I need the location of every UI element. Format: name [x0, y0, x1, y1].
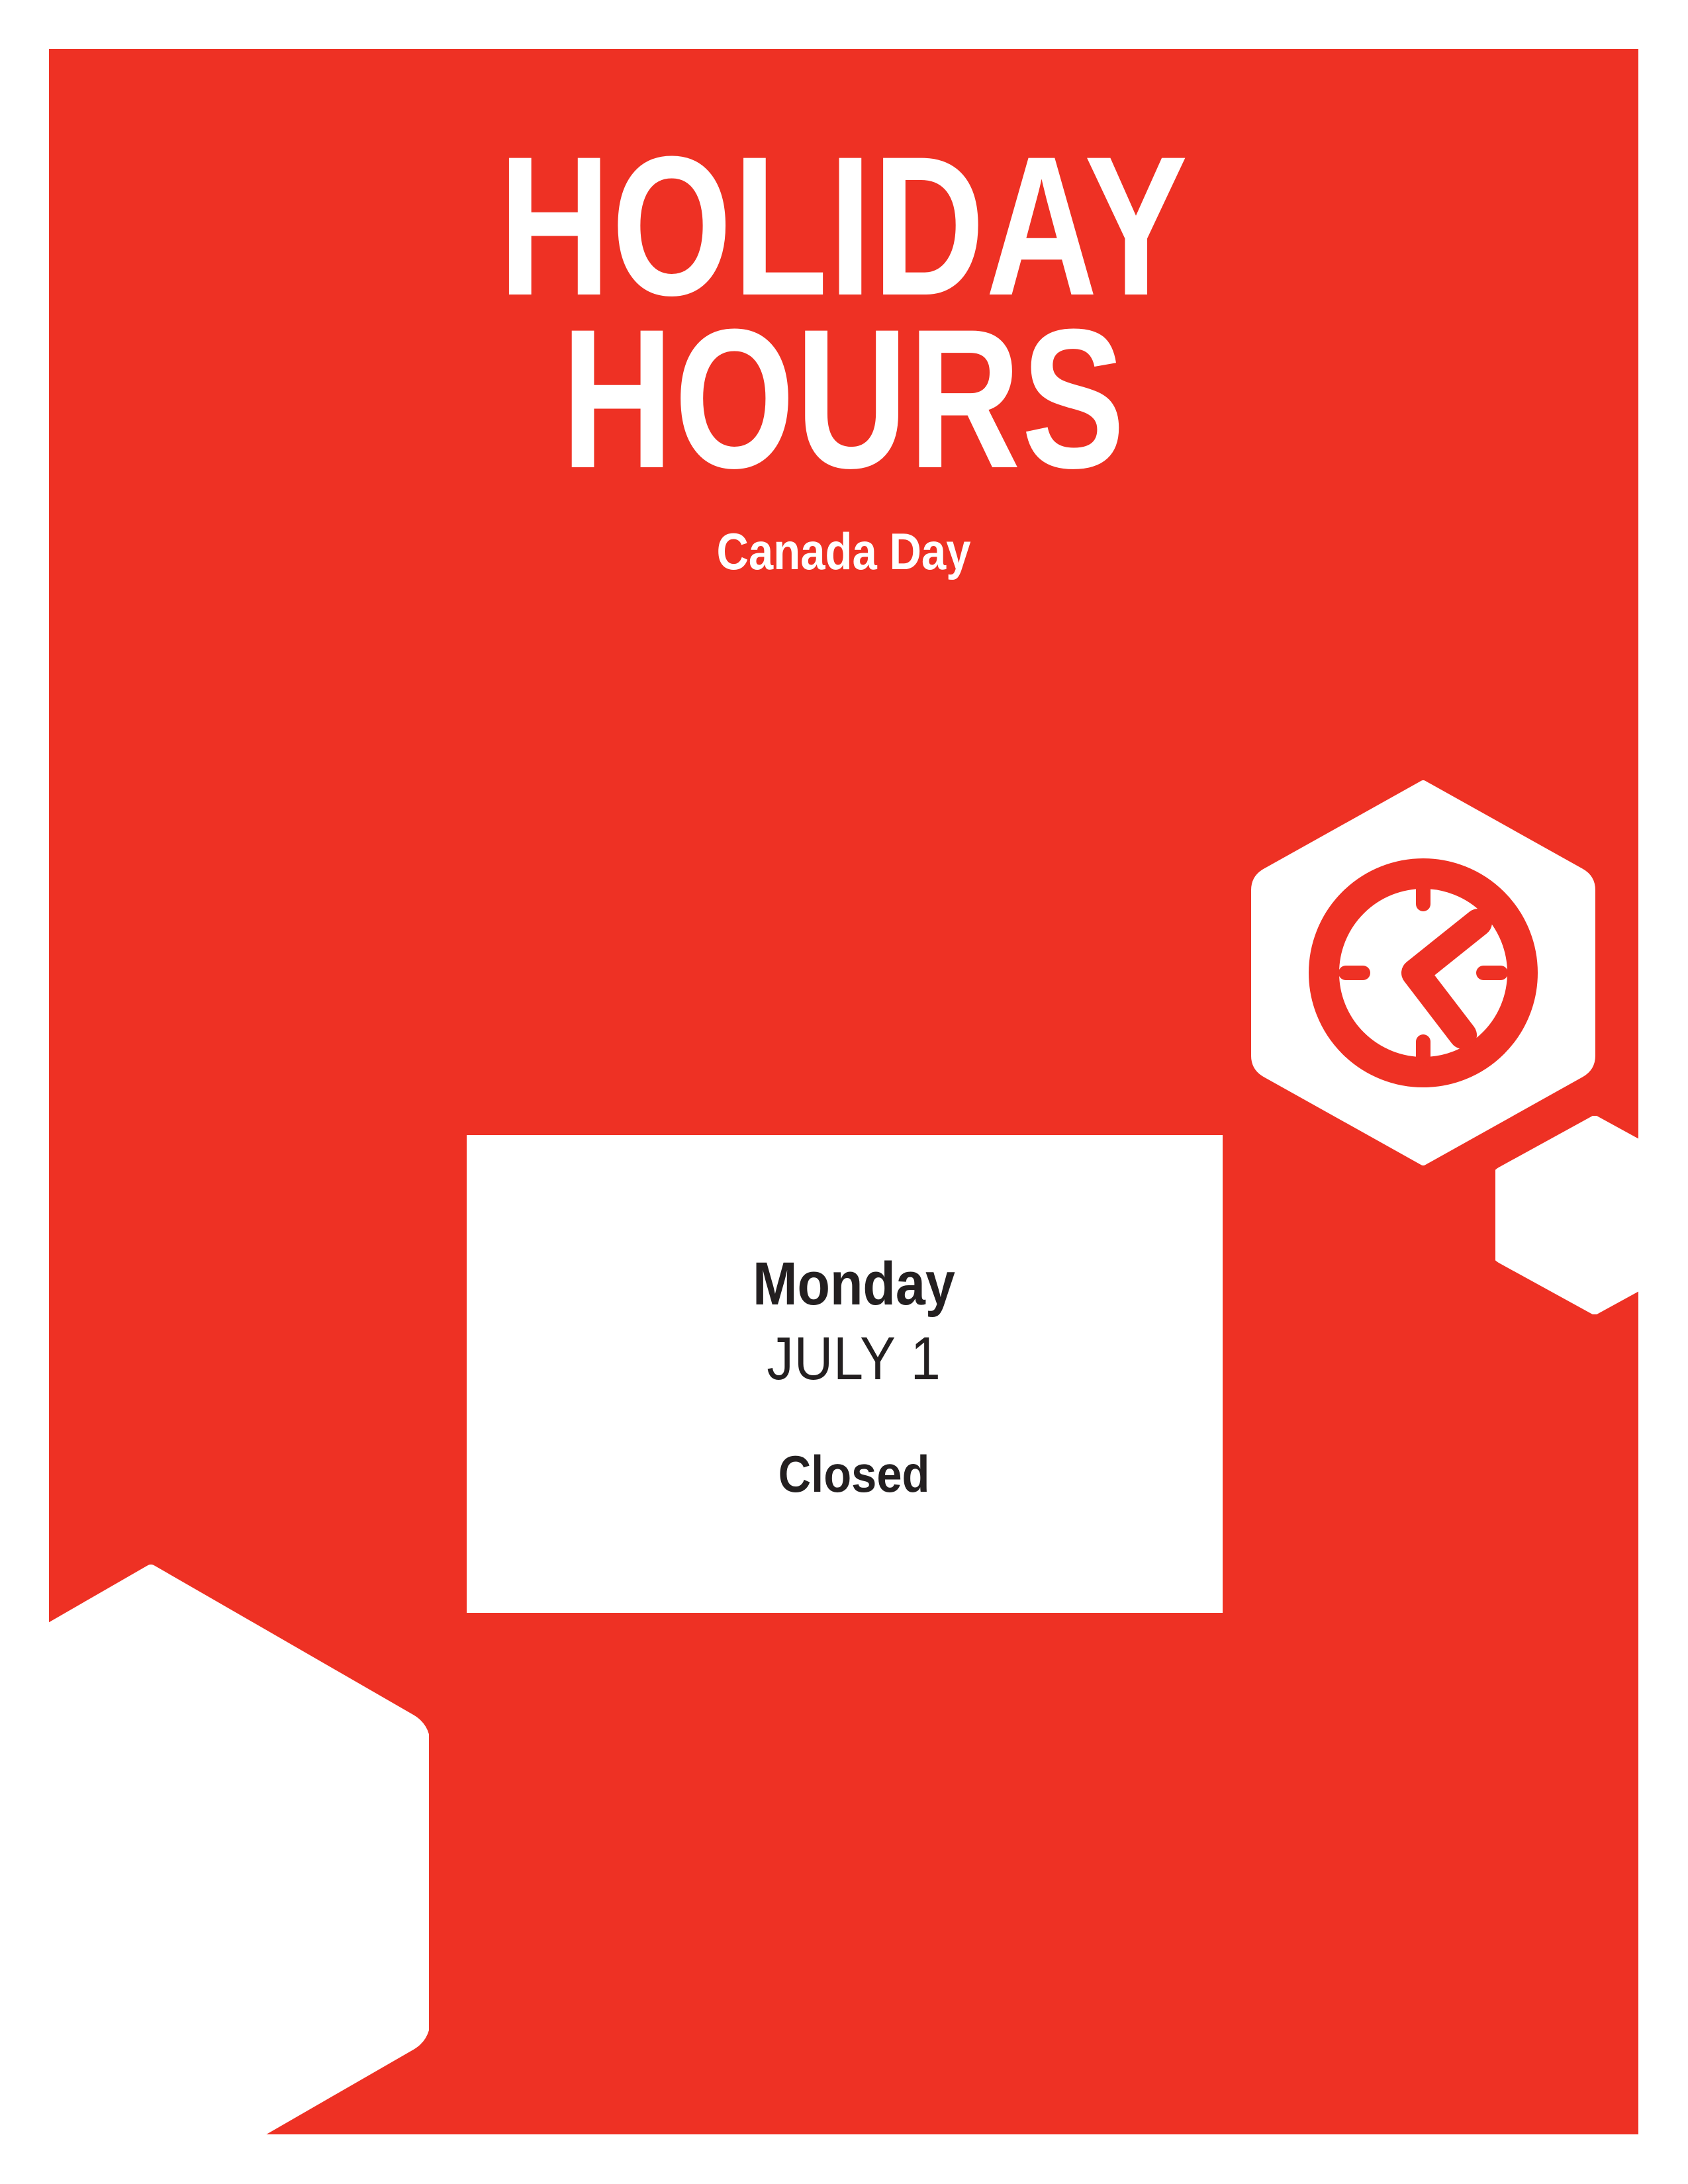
hours-info-card: Monday JULY 1 Closed [467, 1135, 1223, 1613]
large-hexagon-icon [49, 1565, 429, 2134]
small-hexagon-icon [1495, 1116, 1638, 1314]
hours-info-card-content: Monday JULY 1 Closed [476, 1248, 1232, 1500]
holiday-hours-poster: HOLIDAY HOURS Canada Day [0, 0, 1688, 2184]
hours-date-label: JULY 1 [522, 1320, 1187, 1399]
page-title-line-2: HOURS [224, 306, 1464, 491]
hours-status-label: Closed [522, 1448, 1187, 1500]
clock-in-hexagon-icon [1251, 780, 1595, 1165]
page-subtitle: Canada Day [160, 525, 1527, 577]
title-block: HOLIDAY HOURS Canada Day [49, 49, 1638, 577]
red-panel: HOLIDAY HOURS Canada Day [49, 49, 1638, 2134]
hours-day-label: Monday [522, 1248, 1187, 1320]
